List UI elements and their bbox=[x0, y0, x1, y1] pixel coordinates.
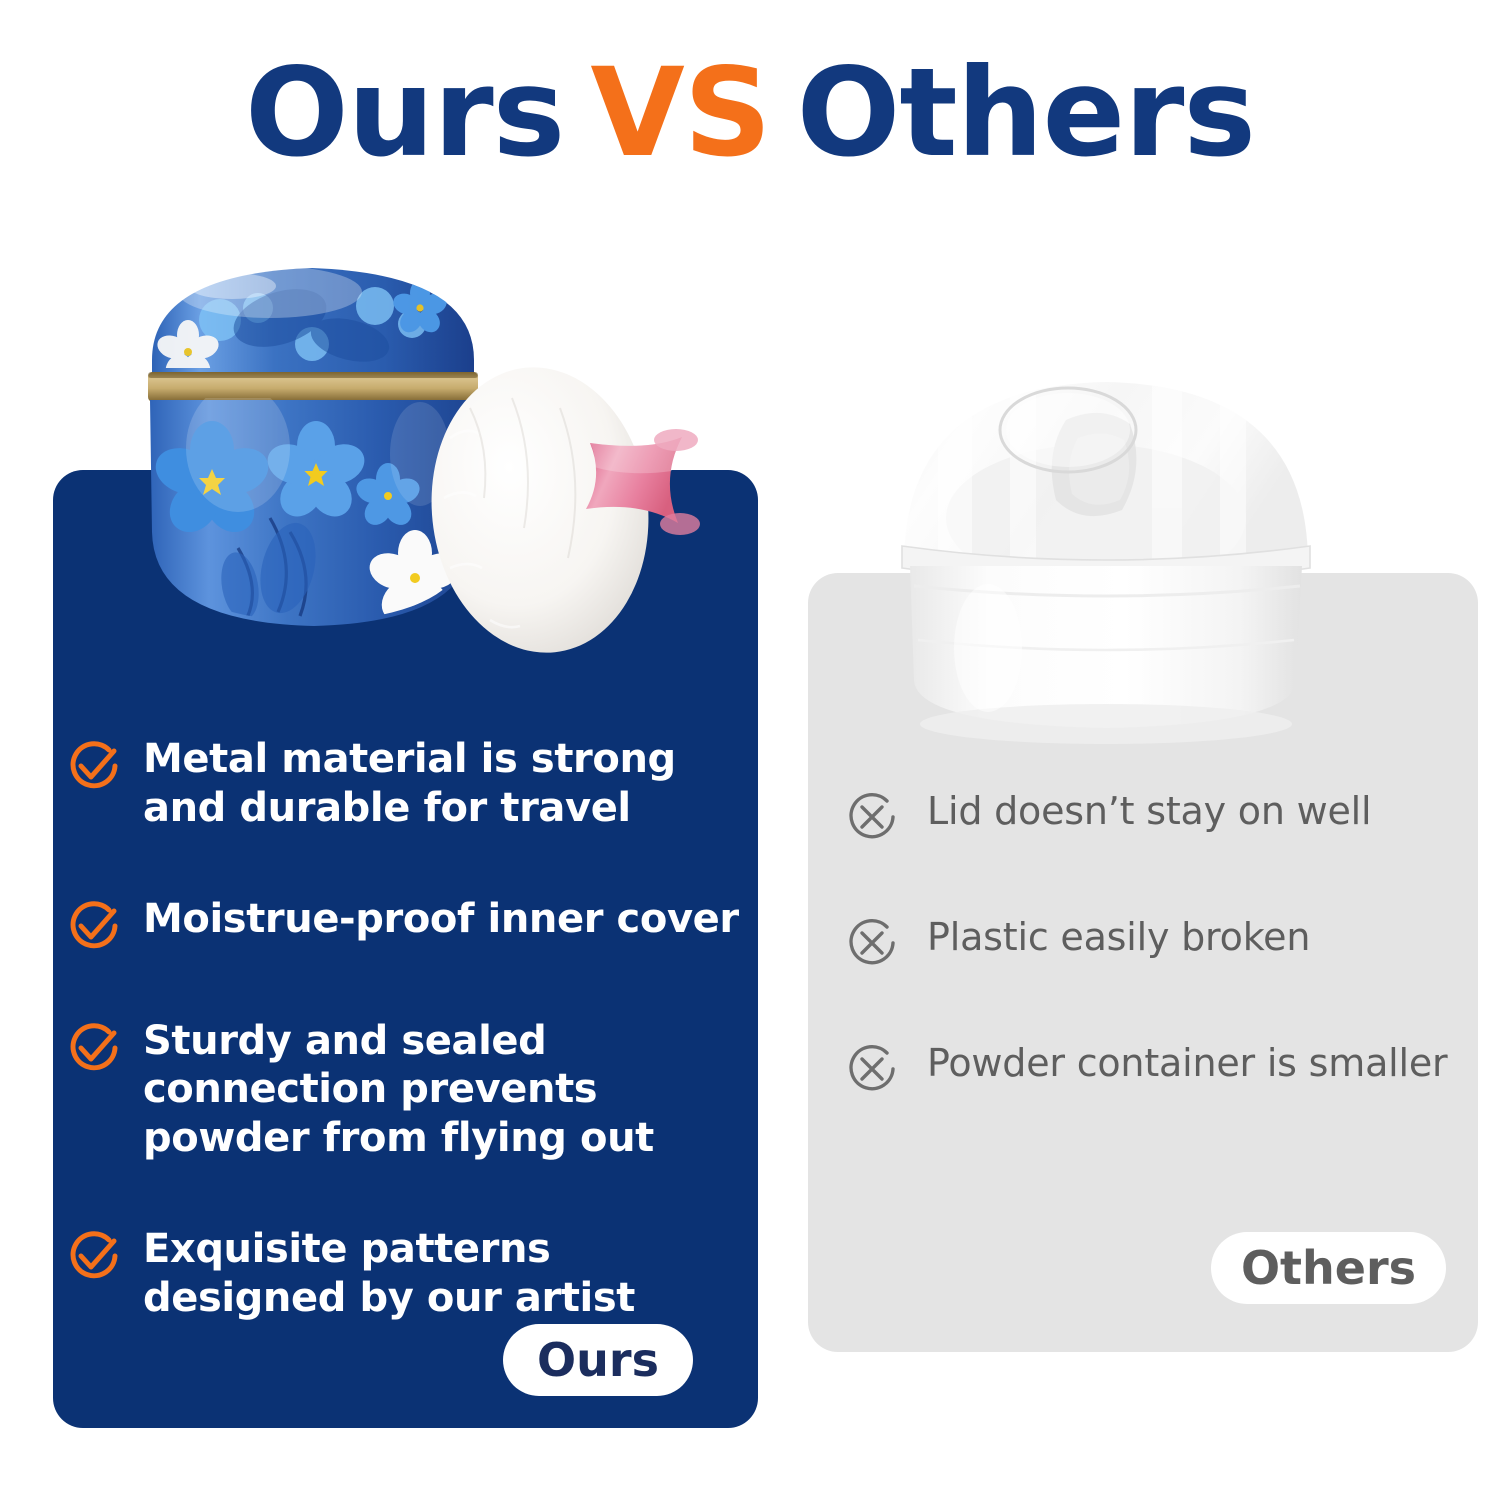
badge-label: Others bbox=[1241, 1241, 1416, 1295]
check-circle-icon bbox=[65, 897, 123, 955]
list-item-label: Metal material is strong and durable for… bbox=[143, 735, 746, 833]
title-word-others: Others bbox=[797, 52, 1255, 174]
check-circle-icon bbox=[65, 1227, 123, 1285]
list-item-label: Powder container is smaller bbox=[927, 1040, 1447, 1086]
list-item: Sturdy and sealed connection prevents po… bbox=[65, 1017, 746, 1163]
comparison-infographic: OursVSOthers Metal material is strong an… bbox=[0, 0, 1500, 1500]
product-image-others bbox=[880, 368, 1332, 750]
check-circle-icon bbox=[65, 737, 123, 795]
list-item: Plastic easily broken bbox=[843, 914, 1460, 972]
list-item-label: Moistrue-proof inner cover bbox=[143, 895, 739, 944]
list-item-label: Sturdy and sealed connection prevents po… bbox=[143, 1017, 746, 1163]
list-item: Lid doesn’t stay on well bbox=[843, 788, 1460, 846]
blue-floral-tin-illustration bbox=[120, 248, 740, 698]
cross-circle-icon bbox=[843, 1040, 901, 1098]
page-title: OursVSOthers bbox=[0, 52, 1500, 174]
others-feature-list: Lid doesn’t stay on well Plastic easily … bbox=[808, 788, 1478, 1166]
list-item-label: Plastic easily broken bbox=[927, 914, 1310, 960]
white-plastic-container-illustration bbox=[880, 368, 1332, 750]
ours-feature-list: Metal material is strong and durable for… bbox=[53, 735, 758, 1385]
status-badge-others: Others bbox=[1211, 1232, 1446, 1304]
list-item-label: Exquisite patterns designed by our artis… bbox=[143, 1225, 746, 1323]
status-badge-ours: Ours bbox=[503, 1324, 693, 1396]
list-item: Moistrue-proof inner cover bbox=[65, 895, 746, 955]
list-item: Powder container is smaller bbox=[843, 1040, 1460, 1098]
list-item: Exquisite patterns designed by our artis… bbox=[65, 1225, 746, 1323]
list-item: Metal material is strong and durable for… bbox=[65, 735, 746, 833]
product-image-ours bbox=[120, 248, 740, 698]
list-item-label: Lid doesn’t stay on well bbox=[927, 788, 1371, 834]
cross-circle-icon bbox=[843, 788, 901, 846]
badge-label: Ours bbox=[537, 1333, 659, 1387]
check-circle-icon bbox=[65, 1019, 123, 1077]
title-word-vs: VS bbox=[590, 52, 770, 174]
cross-circle-icon bbox=[843, 914, 901, 972]
title-word-ours: Ours bbox=[245, 52, 564, 174]
